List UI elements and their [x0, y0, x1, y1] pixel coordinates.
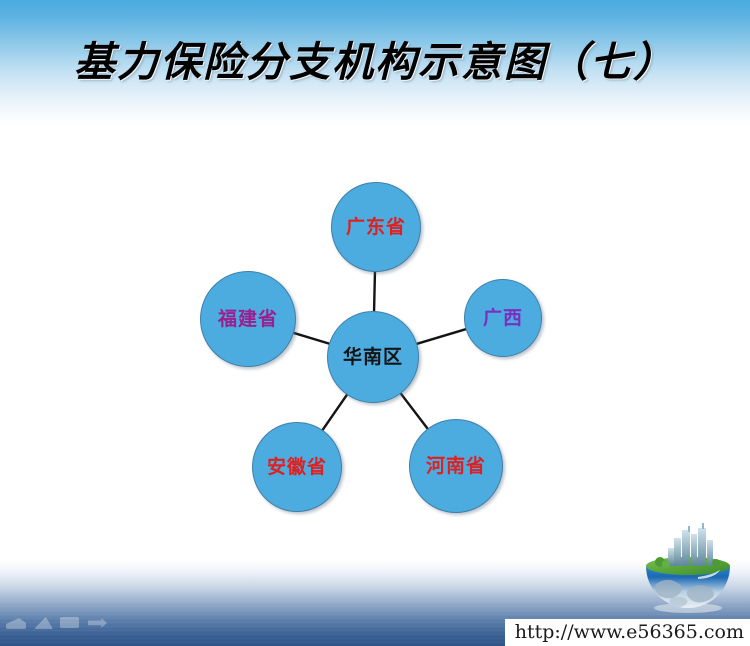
diagram-edge-center-to-guangdong: [374, 271, 375, 312]
slide-canvas: 基力保险分支机构示意图（七） 华南区广东省广西福建省安徽省河南省: [0, 0, 750, 646]
diagram-node-anhui[interactable]: 安徽省: [252, 422, 342, 512]
globe-with-city-icon: [638, 518, 738, 614]
diagram-node-guangdong[interactable]: 广东省: [331, 182, 421, 272]
diagram-node-label-guangxi: 广西: [483, 309, 523, 328]
diagram-edge-center-to-fujian: [293, 333, 330, 344]
diagram-edge-center-to-guangxi: [416, 329, 467, 344]
diagram-node-label-anhui: 安徽省: [267, 458, 327, 477]
watermark-url: http://www.e56365.com: [505, 619, 750, 646]
diagram-node-henan[interactable]: 河南省: [409, 419, 503, 513]
diagram-edge-center-to-henan: [400, 393, 428, 430]
diagram-node-label-center: 华南区: [343, 348, 403, 367]
diagram-node-label-henan: 河南省: [426, 457, 486, 476]
diagram-edge-center-to-anhui: [322, 394, 347, 431]
diagram-node-guangxi[interactable]: 广西: [464, 279, 542, 357]
diagram-node-fujian[interactable]: 福建省: [200, 271, 296, 367]
diagram-node-label-guangdong: 广东省: [346, 218, 406, 237]
diagram-node-center[interactable]: 华南区: [327, 311, 419, 403]
diagram-node-label-fujian: 福建省: [218, 310, 278, 329]
